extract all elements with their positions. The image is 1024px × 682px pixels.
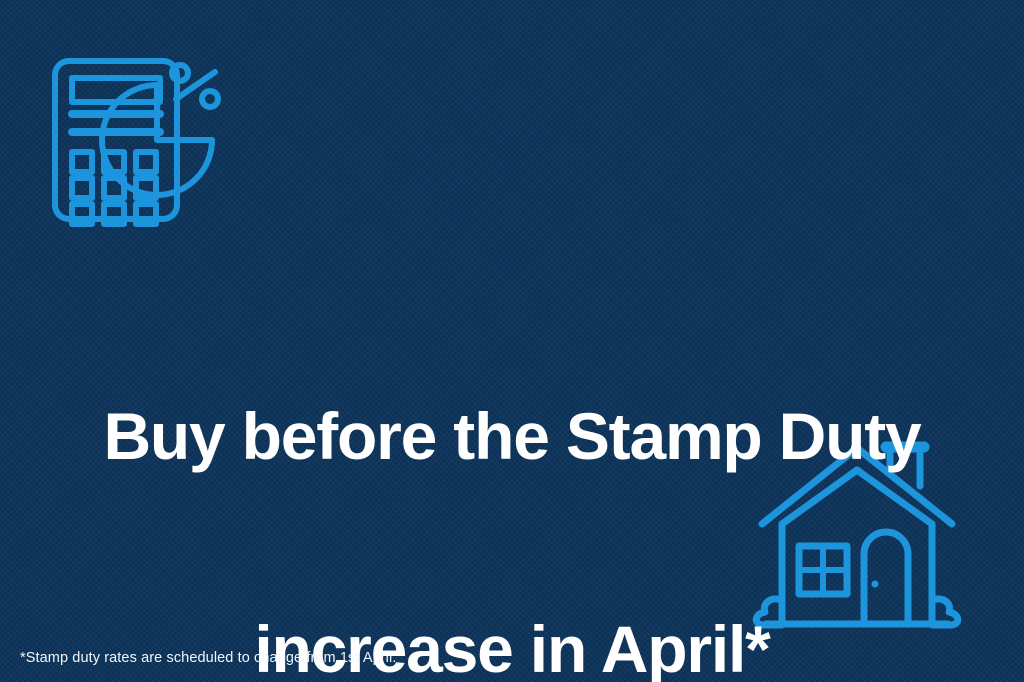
calculator-pie-chart-percent-icon: [44, 52, 230, 230]
calculator-key: [104, 204, 124, 224]
percent-slash: [176, 72, 215, 99]
calculator-display: [72, 78, 160, 102]
headline-line-2: increase in April*: [0, 614, 1024, 682]
promo-banner: Buy before the Stamp Duty increase in Ap…: [0, 0, 1024, 682]
calculator-icon-svg: [44, 52, 230, 230]
calculator-key: [72, 204, 92, 224]
page-title: Buy before the Stamp Duty increase in Ap…: [0, 258, 1024, 682]
percent-circle-top: [172, 65, 188, 81]
calculator-key: [72, 178, 92, 198]
calculator-key: [136, 152, 156, 172]
headline-line-1: Buy before the Stamp Duty: [0, 401, 1024, 472]
footnote-disclaimer: *Stamp duty rates are scheduled to chang…: [20, 650, 396, 666]
calculator-key: [136, 204, 156, 224]
calculator-key: [72, 152, 92, 172]
calculator-keypad: [72, 152, 156, 224]
percent-circle-bottom: [202, 91, 218, 107]
